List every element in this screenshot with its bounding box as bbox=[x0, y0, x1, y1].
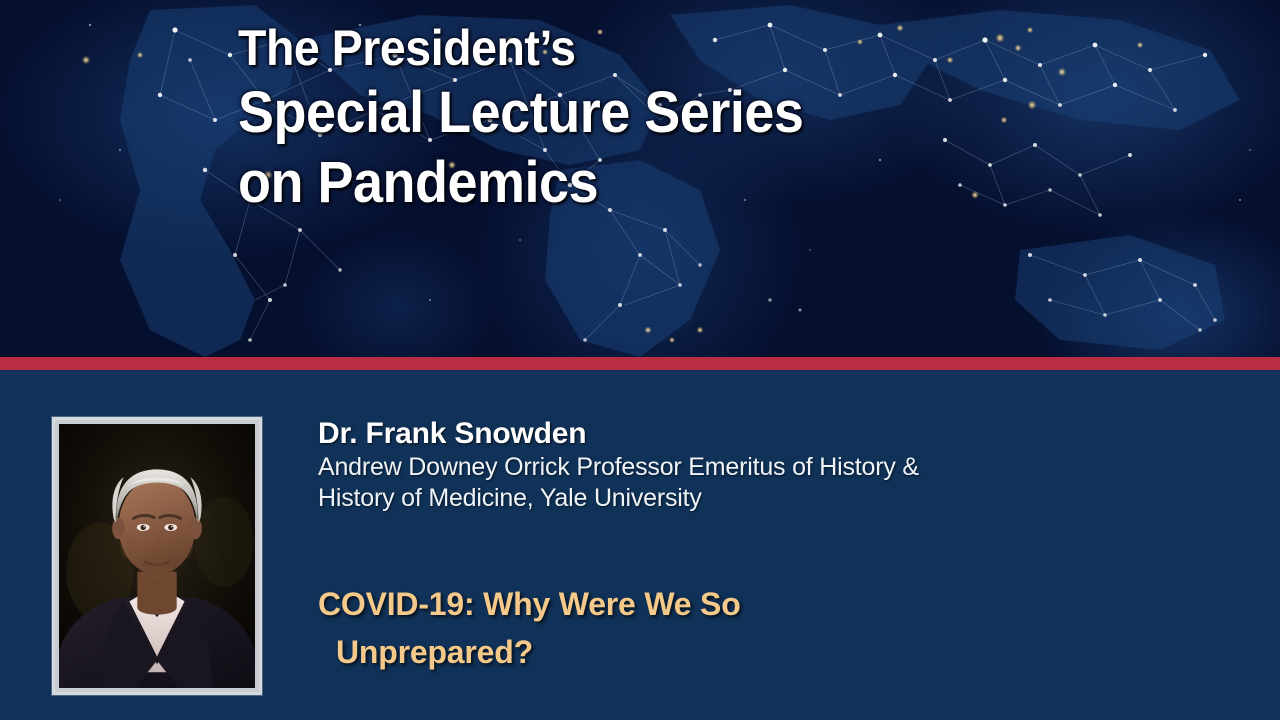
speaker-affiliation-line-1: Andrew Downey Orrick Professor Emeritus … bbox=[318, 452, 1248, 483]
speaker-portrait-photo bbox=[59, 424, 255, 688]
speaker-photo-frame bbox=[52, 417, 262, 695]
banner-header: The President’s Special Lecture Series o… bbox=[0, 0, 1280, 357]
lecture-title: COVID-19: Why Were We So Unprepared? bbox=[318, 580, 1078, 676]
red-divider-bar bbox=[0, 357, 1280, 370]
banner-title-line-2: Special Lecture Series bbox=[238, 78, 982, 148]
speaker-name: Dr. Frank Snowden bbox=[318, 416, 1248, 452]
banner-title-line-3: on Pandemics bbox=[238, 148, 982, 218]
lecture-title-line-2: Unprepared? bbox=[318, 628, 1078, 676]
speaker-info: Dr. Frank Snowden Andrew Downey Orrick P… bbox=[318, 416, 1248, 514]
lecture-title-line-1: COVID-19: Why Were We So bbox=[318, 580, 1078, 628]
speaker-affiliation-line-2: History of Medicine, Yale University bbox=[318, 483, 1248, 514]
banner-title: The President’s Special Lecture Series o… bbox=[238, 18, 1038, 218]
banner-title-line-1: The President’s bbox=[238, 18, 982, 78]
lecture-title-slide: The President’s Special Lecture Series o… bbox=[0, 0, 1280, 720]
